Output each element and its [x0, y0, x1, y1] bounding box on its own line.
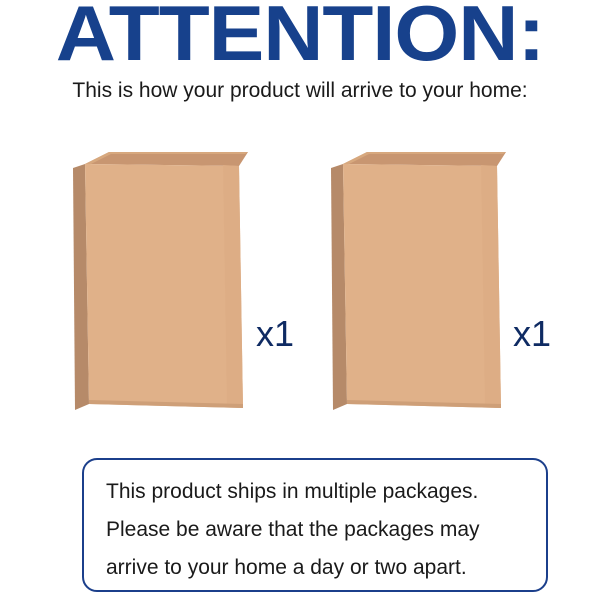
box-front-face: [343, 164, 501, 408]
package-quantity-2: x1: [513, 316, 551, 352]
package-quantity-1: x1: [256, 316, 294, 352]
page-subtitle: This is how your product will arrive to …: [0, 78, 600, 104]
notice-line-2: Please be aware that the packages may: [106, 511, 536, 549]
cardboard-box-icon: [73, 150, 248, 412]
notice-line-3: arrive to your home a day or two apart.: [106, 549, 536, 587]
cardboard-box-icon: [331, 150, 506, 412]
shipping-notice-text: This product ships in multiple packages.…: [106, 473, 536, 587]
page-title: ATTENTION:: [0, 0, 600, 72]
package-illustration-1: [73, 150, 248, 412]
box-front-face: [85, 164, 243, 408]
notice-line-1: This product ships in multiple packages.: [106, 473, 536, 511]
shipping-notice-box: This product ships in multiple packages.…: [82, 458, 548, 592]
package-illustration-2: [331, 150, 506, 412]
